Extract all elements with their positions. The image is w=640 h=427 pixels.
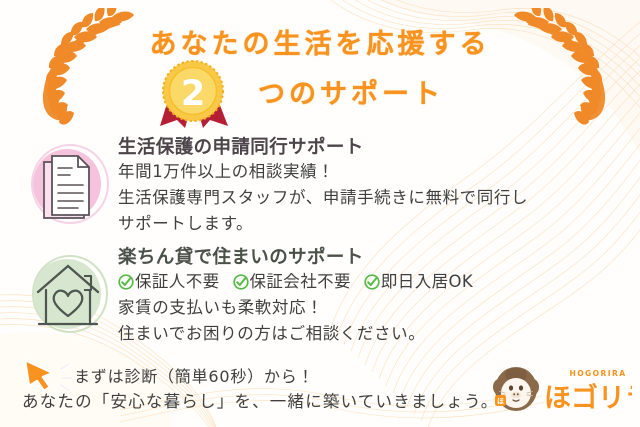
support-1-line-2: 生活保護専門スタッフが、申請手続きに無料で同行し xyxy=(118,185,634,211)
hogorira-logo[interactable]: ほ HOGORIRA ほゴリラ xyxy=(492,362,632,414)
support-1-line-1: 年間1万件以上の相談実績！ xyxy=(118,159,634,185)
banner-header: あなたの生活を応援する 2 つのサポート xyxy=(0,0,640,130)
svg-text:ほ: ほ xyxy=(497,397,504,405)
check-label-3: 即日入居OK xyxy=(381,269,473,295)
logo-wordmark: ほゴリラ xyxy=(544,382,632,414)
support-2-icon-wrap xyxy=(26,246,112,342)
banner-footer: まずは診断（簡単60秒）から！ あなたの「安心な暮らし」を、一緒に築いていきまし… xyxy=(0,352,640,427)
support-1-line-3: サポートします。 xyxy=(118,211,634,237)
stacked-documents-icon xyxy=(26,136,112,232)
gorilla-mascot-icon: ほ xyxy=(493,367,539,411)
support-2-title: 楽ちん貸で住まいのサポート xyxy=(118,246,634,269)
check-label-1: 保証人不要 xyxy=(135,269,220,295)
check-item-1: 保証人不要 xyxy=(118,269,220,295)
header-line-2: つのサポート xyxy=(258,79,444,110)
house-heart-icon xyxy=(26,246,112,342)
header-line-2-wrap: つのサポート xyxy=(0,72,640,111)
check-circle-icon xyxy=(118,274,134,290)
header-line-1: あなたの生活を応援する xyxy=(0,22,640,61)
support-2-check-row: 保証人不要 保証会社不要 即日入居OK xyxy=(118,269,634,295)
check-item-2: 保証会社不要 xyxy=(233,269,351,295)
check-circle-icon xyxy=(233,274,249,290)
support-2-line-2: 住まいでお困りの方はご相談ください。 xyxy=(118,321,634,347)
check-label-2: 保証会社不要 xyxy=(250,269,351,295)
check-circle-icon xyxy=(364,274,380,290)
footer-line-1: まずは診断（簡単60秒）から！ xyxy=(74,363,314,387)
support-banner: あなたの生活を応援する 2 つのサポート xyxy=(0,0,640,427)
support-2-line-1: 家賃の支払いも柔軟対応！ xyxy=(118,295,634,321)
check-item-3: 即日入居OK xyxy=(364,269,473,295)
support-1-title: 生活保護の申請同行サポート xyxy=(118,136,634,159)
support-2-body: 楽ちん貸で住まいのサポート 保証人不要 保証会社不要 xyxy=(118,246,634,347)
support-1-body: 生活保護の申請同行サポート 年間1万件以上の相談実績！ 生活保護専門スタッフが、… xyxy=(118,136,634,237)
support-1-icon-wrap xyxy=(26,136,112,232)
footer-line-2: あなたの「安心な暮らし」を、一緒に築いていきましょう。 xyxy=(22,388,498,412)
logo-romaji: HOGORIRA xyxy=(569,369,626,378)
